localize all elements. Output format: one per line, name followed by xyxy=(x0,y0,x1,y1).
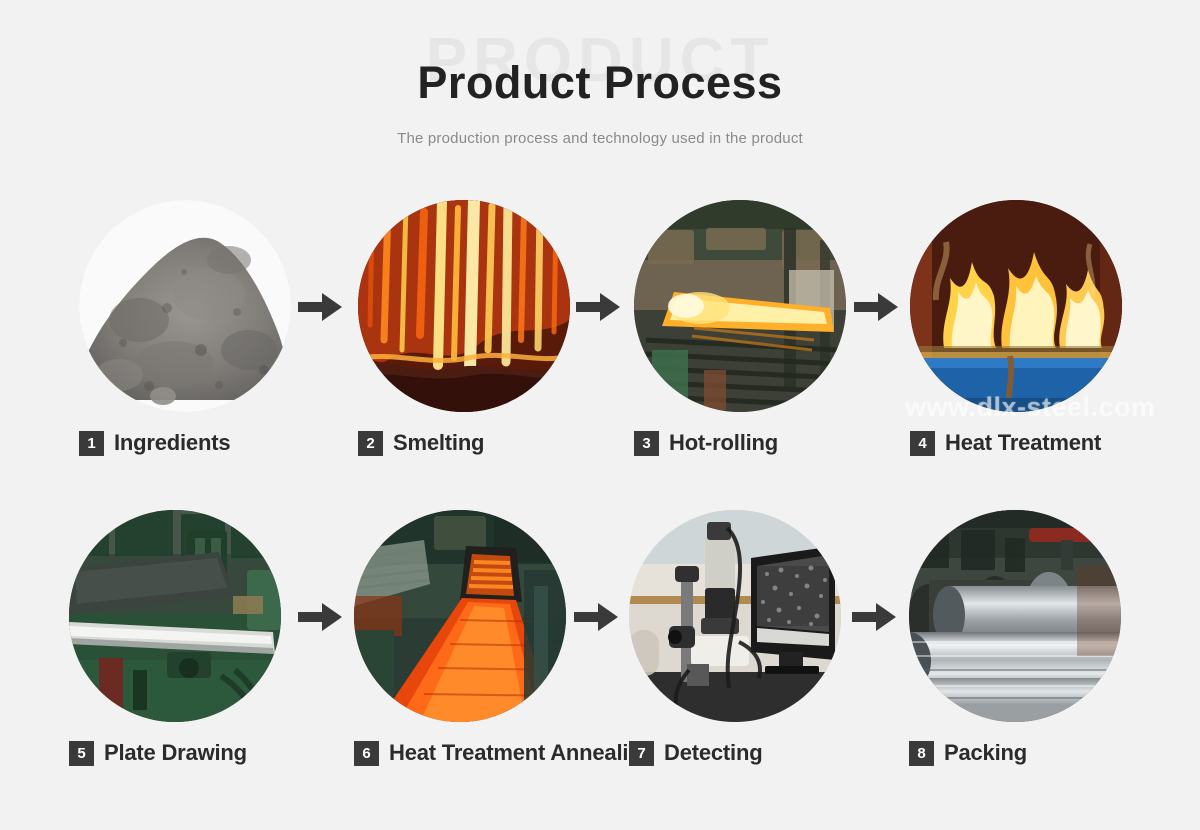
step-image-hot-rolling[interactable] xyxy=(634,200,846,412)
step-image-plate-drawing[interactable] xyxy=(69,510,281,722)
page-title: Product Process xyxy=(0,58,1200,108)
step-label: Heat Treatment Annealing xyxy=(389,740,655,766)
process-row-2: 5 Plate Drawing xyxy=(0,510,1200,820)
step-number-badge: 7 xyxy=(629,741,654,766)
arrow-right-icon xyxy=(296,290,344,324)
process-step-1[interactable]: 1 Ingredients xyxy=(79,200,291,456)
step-number-badge: 3 xyxy=(634,431,659,456)
step-number-badge: 2 xyxy=(358,431,383,456)
step-image-smelting[interactable] xyxy=(358,200,570,412)
step-caption: 6 Heat Treatment Annealing xyxy=(354,740,566,766)
process-flow: 1 Ingredients xyxy=(0,200,1200,820)
step-label: Hot-rolling xyxy=(669,430,778,456)
page-header: PRODUCT Product Process The production p… xyxy=(0,0,1200,185)
step-number-badge: 5 xyxy=(69,741,94,766)
process-step-8[interactable]: 8 Packing xyxy=(909,510,1121,766)
step-image-ingredients[interactable] xyxy=(79,200,291,412)
step-label: Plate Drawing xyxy=(104,740,247,766)
process-step-7[interactable]: 7 Detecting xyxy=(629,510,841,766)
step-label: Smelting xyxy=(393,430,484,456)
step-number-badge: 6 xyxy=(354,741,379,766)
step-caption: 5 Plate Drawing xyxy=(69,740,281,766)
step-number-badge: 4 xyxy=(910,431,935,456)
step-label: Ingredients xyxy=(114,430,230,456)
step-number-badge: 1 xyxy=(79,431,104,456)
step-number-badge: 8 xyxy=(909,741,934,766)
process-row-1: 1 Ingredients xyxy=(0,200,1200,510)
step-image-packing[interactable] xyxy=(909,510,1121,722)
step-image-detecting[interactable] xyxy=(629,510,841,722)
process-step-2[interactable]: 2 Smelting xyxy=(358,200,570,456)
step-label: Detecting xyxy=(664,740,762,766)
process-step-4[interactable]: 4 Heat Treatment xyxy=(910,200,1122,456)
process-step-5[interactable]: 5 Plate Drawing xyxy=(69,510,281,766)
step-caption: 3 Hot-rolling xyxy=(634,430,846,456)
step-image-heat-treatment[interactable] xyxy=(910,200,1122,412)
step-caption: 2 Smelting xyxy=(358,430,570,456)
step-label: Heat Treatment xyxy=(945,430,1101,456)
arrow-right-icon xyxy=(574,290,622,324)
arrow-right-icon xyxy=(850,600,898,634)
process-step-3[interactable]: 3 Hot-rolling xyxy=(634,200,846,456)
step-caption: 8 Packing xyxy=(909,740,1121,766)
process-step-6[interactable]: 6 Heat Treatment Annealing xyxy=(354,510,566,766)
arrow-right-icon xyxy=(296,600,344,634)
arrow-right-icon xyxy=(852,290,900,324)
step-caption: 7 Detecting xyxy=(629,740,841,766)
arrow-right-icon xyxy=(572,600,620,634)
page-subtitle: The production process and technology us… xyxy=(0,130,1200,147)
step-image-annealing[interactable] xyxy=(354,510,566,722)
step-label: Packing xyxy=(944,740,1027,766)
step-caption: 1 Ingredients xyxy=(79,430,291,456)
step-caption: 4 Heat Treatment xyxy=(910,430,1122,456)
